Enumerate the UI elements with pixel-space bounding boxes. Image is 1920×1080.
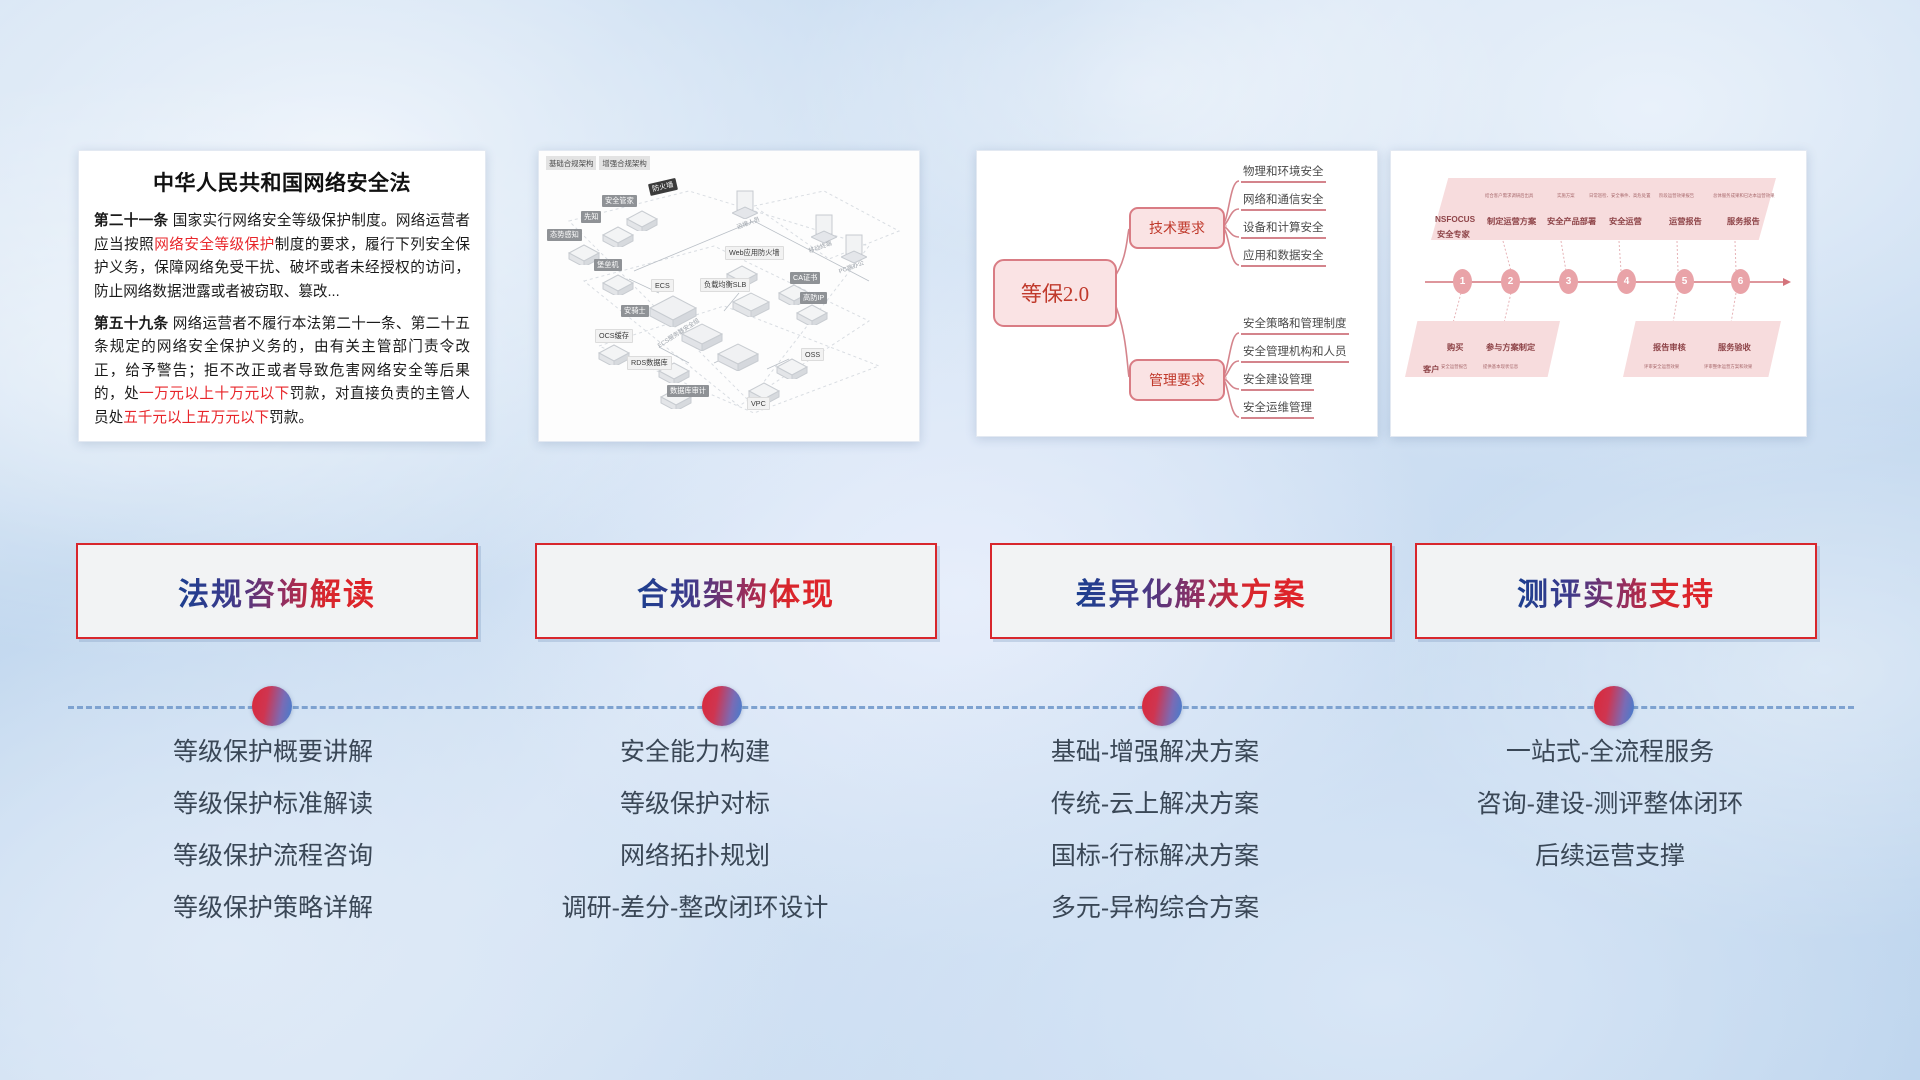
- feature-item: 一站式-全流程服务: [1395, 740, 1825, 765]
- node-label-load-balancer-slb: 负载均衡SLB: [700, 278, 750, 292]
- feature-item: 咨询-建设-测评整体闭环: [1395, 792, 1825, 817]
- top-step-sub: 结合客户需求调研后出具: [1485, 193, 1533, 199]
- bottom-step-sub: 评审整体运营方案和效果: [1704, 364, 1752, 370]
- card-service-timeline[interactable]: NSFOCUS 安全专家 客户 制定运营方案 结合客户需求调研后出具 安全产品部…: [1390, 150, 1807, 437]
- bottom-step-title: 服务验收: [1718, 341, 1751, 353]
- feature-item: 等级保护流程咨询: [58, 844, 488, 869]
- timeline-step-number: 2: [1501, 269, 1520, 294]
- architecture-links: [539, 151, 919, 441]
- node-label-anti-ddos-ip: 高防IP: [800, 292, 827, 304]
- title-box-assessment-support[interactable]: 测评实施支持: [1415, 543, 1817, 639]
- law-body: 中华人民共和国网络安全法 第二十一条 国家实行网络安全等级保护制度。网络运营者应…: [79, 151, 485, 441]
- preview-cards-row: 中华人民共和国网络安全法 第二十一条 国家实行网络安全等级保护制度。网络运营者应…: [0, 150, 1920, 445]
- mindmap-leaf: 网络和通信安全: [1241, 191, 1326, 211]
- node-label-ecs: ECS: [651, 279, 674, 292]
- timeline-step-number: 3: [1559, 269, 1578, 294]
- top-step-sub: 总体服务成果和已达本运营效果: [1713, 193, 1774, 199]
- timeline-dashed-line: [68, 706, 1854, 709]
- timeline-dot-3[interactable]: [1142, 686, 1182, 726]
- feature-columns: 等级保护概要讲解 等级保护标准解读 等级保护流程咨询 等级保护策略详解 安全能力…: [0, 740, 1920, 980]
- top-step-sub: 日常巡检、安全事件、高危处置: [1589, 193, 1650, 199]
- timeline-step-number: 1: [1453, 269, 1472, 294]
- law-title: 中华人民共和国网络安全法: [94, 167, 470, 197]
- node-label-vpc: VPC: [747, 397, 770, 410]
- feature-item: 等级保护标准解读: [58, 792, 488, 817]
- mindmap-branch-technical: 技术要求: [1129, 207, 1225, 249]
- feature-column-3: 基础-增强解决方案 传统-云上解决方案 国标-行标解决方案 多元-异构综合方案: [940, 740, 1370, 948]
- node-label-web-application-firewall: Web应用防火墙: [725, 246, 784, 260]
- card-cloud-architecture[interactable]: 基础合规架构增强合规架构: [538, 150, 920, 442]
- feature-item: 网络拓扑规划: [480, 844, 910, 869]
- mindmap-leaf: 物理和环境安全: [1241, 163, 1326, 183]
- title-box-differentiated-solution[interactable]: 差异化解决方案: [990, 543, 1392, 639]
- feature-item: 多元-异构综合方案: [940, 896, 1370, 921]
- top-step-title: 运营报告: [1669, 215, 1702, 227]
- law-article-label-1: 第二十一条: [94, 213, 168, 229]
- top-step-sub: 阶段运营效果报告: [1659, 193, 1694, 199]
- node-label-situation-awareness: 态势感知: [547, 229, 582, 241]
- customer-role-name: 客户: [1423, 363, 1439, 375]
- bottom-step-title: 购买: [1447, 341, 1463, 353]
- service-timeline: NSFOCUS 安全专家 客户 制定运营方案 结合客户需求调研后出具 安全产品部…: [1391, 151, 1806, 436]
- title-box-compliance-architecture[interactable]: 合规架构体现: [535, 543, 937, 639]
- mindmap-branch-management: 管理要求: [1129, 359, 1225, 401]
- timeline-dot-2[interactable]: [702, 686, 742, 726]
- title-box-regulation-consulting[interactable]: 法规咨询解读: [76, 543, 478, 639]
- title-label: 差异化解决方案: [1076, 569, 1307, 614]
- feature-item: 传统-云上解决方案: [940, 792, 1370, 817]
- bottom-step-title: 报告审核: [1653, 341, 1686, 353]
- timeline-connector: [0, 695, 1920, 719]
- section-title-row: 法规咨询解读 合规架构体现 差异化解决方案 测评实施支持: [0, 543, 1920, 643]
- feature-item: 国标-行标解决方案: [940, 844, 1370, 869]
- card-law-text[interactable]: 中华人民共和国网络安全法 第二十一条 国家实行网络安全等级保护制度。网络运营者应…: [78, 150, 486, 442]
- law-paragraph-1: 第二十一条 国家实行网络安全等级保护制度。网络运营者应当按照网络安全等级保护制度…: [94, 210, 470, 305]
- node-label-security-steward: 安全管家: [602, 195, 637, 207]
- title-label: 测评实施支持: [1517, 569, 1715, 614]
- node-label-xianzhi: 先知: [581, 211, 601, 223]
- feature-item: 等级保护策略详解: [58, 896, 488, 921]
- mindmap: 等保2.0 技术要求 管理要求 物理和环境安全 网络和通信安全 设备和计算安全 …: [977, 151, 1377, 436]
- architecture-diagram: 基础合规架构增强合规架构: [539, 151, 919, 441]
- top-step-title: 安全运营: [1609, 215, 1642, 227]
- timeline-step-number: 4: [1617, 269, 1636, 294]
- top-step-title: 安全产品部署: [1547, 215, 1596, 227]
- mindmap-leaf: 安全策略和管理制度: [1241, 315, 1349, 335]
- node-label-rds-database: RDS数据库: [627, 356, 672, 370]
- node-label-oss: OSS: [801, 348, 824, 361]
- top-step-title: 服务报告: [1727, 215, 1760, 227]
- node-label-ocs-cache: OCS缓存: [595, 329, 633, 343]
- timeline-dot-4[interactable]: [1594, 686, 1634, 726]
- feature-item: 等级保护对标: [480, 792, 910, 817]
- timeline-dot-1[interactable]: [252, 686, 292, 726]
- bottom-step-sub: 提供基本现状信息: [1483, 364, 1518, 370]
- expert-role-subname: 安全专家: [1437, 228, 1470, 240]
- mindmap-leaf: 设备和计算安全: [1241, 219, 1326, 239]
- top-step-sub: 实施方案: [1557, 193, 1575, 199]
- timeline-step-number: 5: [1675, 269, 1694, 294]
- law-run: 罚款。: [269, 410, 313, 426]
- bottom-step-sub: 评审安全运营效果: [1644, 364, 1679, 370]
- node-label-anqishi: 安骑士: [621, 305, 649, 317]
- mindmap-leaf: 安全管理机构和人员: [1241, 343, 1349, 363]
- feature-column-2: 安全能力构建 等级保护对标 网络拓扑规划 调研-差分-整改闭环设计: [480, 740, 910, 948]
- timeline-step-number: 6: [1731, 269, 1750, 294]
- law-run-highlight: 五千元以上五万元以下: [123, 410, 269, 426]
- feature-item: 调研-差分-整改闭环设计: [480, 896, 910, 921]
- title-label: 法规咨询解读: [178, 569, 376, 614]
- bottom-step-sub: 安全运营报告: [1441, 364, 1467, 370]
- mindmap-center: 等保2.0: [993, 259, 1117, 327]
- card-mindmap[interactable]: 等保2.0 技术要求 管理要求 物理和环境安全 网络和通信安全 设备和计算安全 …: [976, 150, 1378, 437]
- mindmap-leaf: 应用和数据安全: [1241, 247, 1326, 267]
- feature-item: 安全能力构建: [480, 740, 910, 765]
- expert-role-name: NSFOCUS: [1435, 215, 1475, 224]
- law-run-highlight: 一万元以上十万元以下: [139, 386, 290, 402]
- top-band: [1431, 178, 1776, 240]
- law-article-label-2: 第五十九条: [94, 316, 168, 332]
- law-run-highlight: 网络安全等级保护: [154, 237, 274, 253]
- node-label-bastion-host: 堡垒机: [594, 259, 622, 271]
- node-label-ca-certificate: CA证书: [790, 272, 820, 284]
- top-step-title: 制定运营方案: [1487, 215, 1536, 227]
- feature-item: 等级保护概要讲解: [58, 740, 488, 765]
- mindmap-leaf: 安全运维管理: [1241, 399, 1314, 419]
- node-label-database-audit: 数据库审计: [667, 385, 709, 397]
- law-paragraph-2: 第五十九条 网络运营者不履行本法第二十一条、第二十五条规定的网络安全保护义务的，…: [94, 313, 470, 431]
- feature-item: 后续运营支撑: [1395, 844, 1825, 869]
- feature-item: 基础-增强解决方案: [940, 740, 1370, 765]
- bottom-step-title: 参与方案制定: [1486, 341, 1535, 353]
- title-label: 合规架构体现: [637, 569, 835, 614]
- feature-column-4: 一站式-全流程服务 咨询-建设-测评整体闭环 后续运营支撑: [1395, 740, 1825, 896]
- mindmap-leaf: 安全建设管理: [1241, 371, 1314, 391]
- feature-column-1: 等级保护概要讲解 等级保护标准解读 等级保护流程咨询 等级保护策略详解: [58, 740, 488, 948]
